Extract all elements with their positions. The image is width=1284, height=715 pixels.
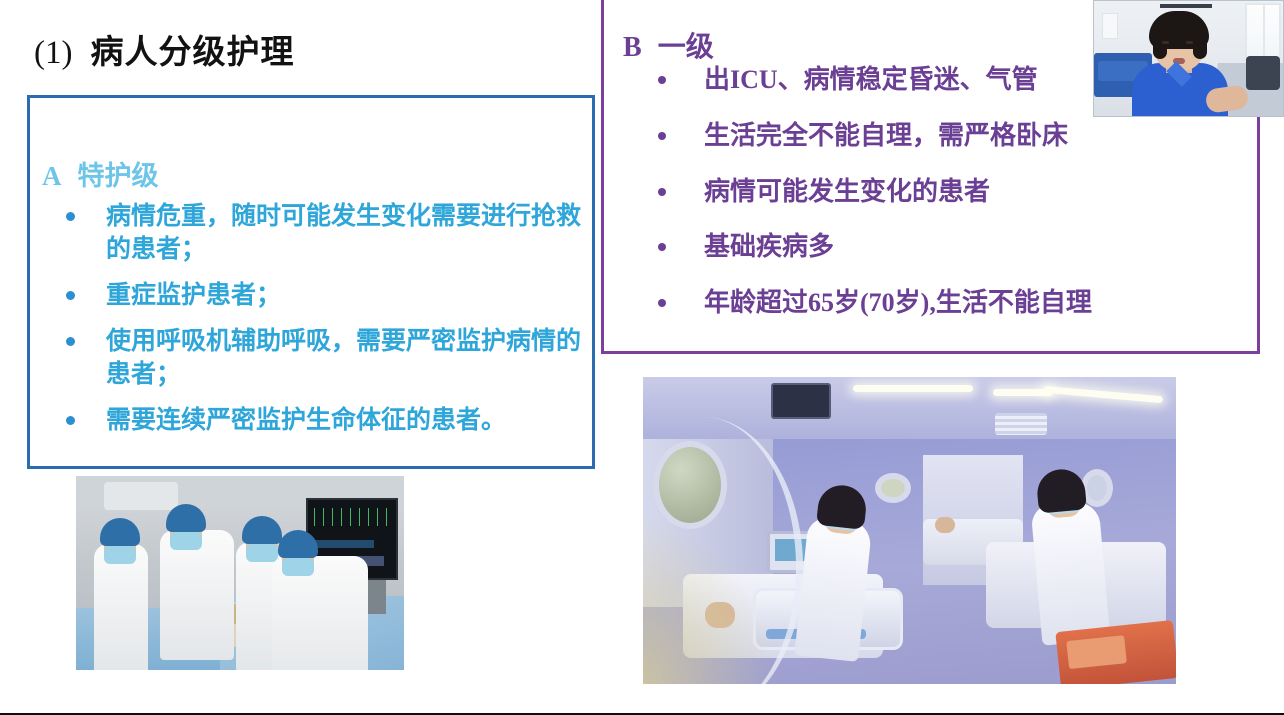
presenter-video-overlay[interactable] — [1093, 0, 1284, 117]
list-item: 基础疾病多 — [626, 230, 1256, 264]
heading-level-one: B一级 — [623, 25, 714, 65]
surgical-cap-icon — [100, 518, 140, 546]
page-title-number: (1) — [34, 35, 72, 71]
presenter-eye — [1186, 41, 1193, 44]
nurse-coat — [1030, 500, 1110, 645]
icu-ward-photo — [643, 377, 1176, 684]
surgical-mask-icon — [282, 558, 314, 576]
surgical-mask-icon — [170, 532, 202, 550]
icu-team-photo — [76, 476, 404, 670]
page-title: (1)病人分级护理 — [34, 33, 294, 74]
chamber-porthole — [875, 473, 911, 503]
list-item: 需要连续严密监护生命体征的患者。 — [38, 404, 598, 437]
list-item: 年龄超过65岁(70岁),生活不能自理 — [626, 286, 1256, 320]
list-item-text: 生活完全不能自理，需严格卧床 — [704, 121, 1068, 150]
heading-level-one-letter: B — [623, 32, 644, 63]
surgical-cap-icon — [278, 530, 318, 558]
video-wall-picture — [1102, 13, 1118, 39]
heading-special-care-text: 特护级 — [78, 161, 159, 191]
list-item: 生活完全不能自理，需严格卧床 — [626, 119, 1256, 153]
heading-special-care: A特护级 — [42, 154, 159, 193]
list-item-text: 基础疾病多 — [704, 232, 834, 261]
bullet-dot-icon — [66, 337, 75, 346]
medical-staff — [94, 518, 148, 670]
wall-display — [771, 383, 831, 419]
bullet-dot-icon — [66, 416, 75, 425]
bullet-dot-icon — [66, 212, 75, 221]
list-item-text: 年龄超过65岁(70岁),生活不能自理 — [704, 288, 1092, 317]
bullet-dot-icon — [66, 291, 75, 300]
page-title-text: 病人分级护理 — [90, 35, 294, 71]
list-item: 病情可能发生变化的患者 — [626, 175, 1256, 209]
video-room-chair — [1246, 56, 1280, 90]
list-item: 病情危重，随时可能发生变化需要进行抢救的患者； — [38, 200, 598, 266]
panel-special-care: A特护级 病情危重，随时可能发生变化需要进行抢救的患者； 重症监护患者； 使用呼… — [27, 95, 595, 469]
bullet-dot-icon — [658, 76, 666, 84]
list-item: 重症监护患者； — [38, 279, 598, 312]
air-vent — [995, 413, 1047, 435]
photo-vignette — [643, 514, 779, 684]
heading-level-one-text: 一级 — [658, 32, 714, 63]
orange-equipment-case — [1055, 620, 1176, 684]
nurse-hair — [816, 483, 868, 530]
presenter-hair — [1149, 11, 1209, 49]
ceiling-light — [853, 385, 973, 392]
medical-staff — [160, 504, 234, 670]
surgical-cap-icon — [166, 504, 206, 532]
heading-special-care-letter: A — [42, 161, 64, 191]
special-care-bullet-list: 病情危重，随时可能发生变化需要进行抢救的患者； 重症监护患者； 使用呼吸机辅助呼… — [38, 200, 598, 450]
list-item-text: 需要连续严密监护生命体征的患者。 — [106, 407, 506, 434]
presenter-eye — [1162, 41, 1169, 44]
list-item-text: 病情可能发生变化的患者 — [704, 177, 990, 206]
list-item-text: 出ICU、病情稳定昏迷、气管 — [704, 65, 1038, 94]
bullet-dot-icon — [658, 243, 666, 251]
bullet-dot-icon — [658, 132, 666, 140]
ecg-trace — [314, 508, 392, 526]
patient-head — [935, 517, 955, 533]
list-item: 使用呼吸机辅助呼吸，需要严密监护病情的患者； — [38, 325, 598, 391]
medical-staff — [272, 530, 368, 662]
list-item-text: 重症监护患者； — [106, 282, 281, 309]
bullet-dot-icon — [658, 188, 666, 196]
bullet-dot-icon — [658, 299, 666, 307]
list-item-text: 使用呼吸机辅助呼吸，需要严密监护病情的患者； — [106, 328, 581, 388]
list-item-text: 病情危重，随时可能发生变化需要进行抢救的患者； — [106, 203, 581, 263]
nurse-hair — [1035, 467, 1086, 513]
video-wall-board — [1160, 4, 1212, 8]
surgical-mask-icon — [104, 546, 136, 564]
slide-stage: (1)病人分级护理 A特护级 病情危重，随时可能发生变化需要进行抢救的患者； 重… — [0, 0, 1284, 715]
